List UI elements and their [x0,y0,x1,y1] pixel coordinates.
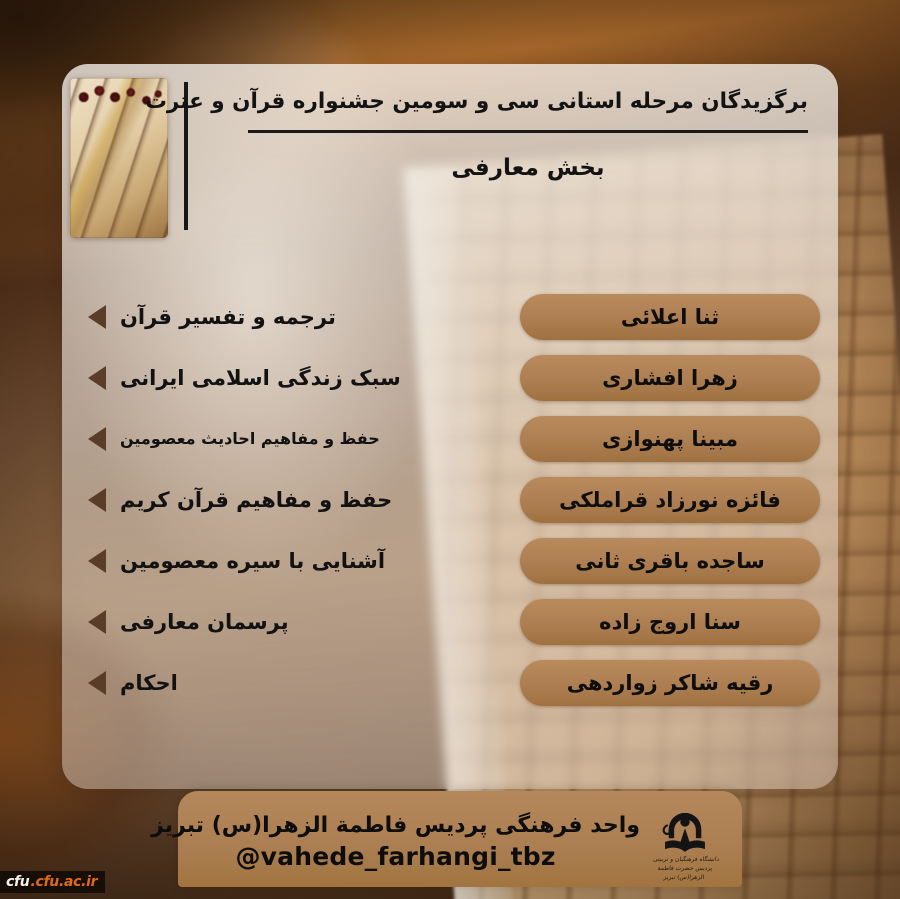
winner-name-pill: سنا اروج زاده [520,599,820,645]
winner-row: ثنا اعلائی ترجمه و تفسیر قرآن [62,286,838,347]
category-label: ترجمه و تفسیر قرآن [120,305,336,329]
footer-bar: دانشگاه فرهنگیان و تربیتی پردیس حضرت فاط… [178,791,742,887]
header-horizontal-rule [248,130,808,133]
winner-row: فائزه نورزاد قراملکی حفظ و مفاهیم قرآن ک… [62,469,838,530]
winner-row: رقیه شاکر زواردهی احکام [62,652,838,713]
poster-root: برگزیدگان مرحله استانی سی و سومین جشنوار… [0,0,900,899]
category-label: احکام [120,671,178,695]
main-card: برگزیدگان مرحله استانی سی و سومین جشنوار… [62,64,838,789]
winner-name-pill: رقیه شاکر زواردهی [520,660,820,706]
winner-name-pill: ثنا اعلائی [520,294,820,340]
winner-name: رقیه شاکر زواردهی [567,671,774,695]
category-label: آشنایی با سیره معصومین [120,549,385,573]
category-label: پرسمان معارفی [120,610,289,634]
triangle-left-icon [88,549,106,573]
winner-name-pill: ساجده باقری ثانی [520,538,820,584]
winner-name: مبینا پهنوازی [602,427,738,451]
category-label: حفظ و مفاهیم قرآن کریم [120,488,392,512]
winner-name: فائزه نورزاد قراملکی [559,488,781,512]
triangle-left-icon [88,427,106,451]
watermark-prefix: cfu [6,874,29,890]
winner-name-pill: فائزه نورزاد قراملکی [520,477,820,523]
triangle-left-icon [88,305,106,329]
organization-logo: دانشگاه فرهنگیان و تربیتی پردیس حضرت فاط… [646,800,724,884]
page-title: برگزیدگان مرحله استانی سی و سومین جشنوار… [248,86,808,118]
category-wrap: حفظ و مفاهیم احادیث معصومین [88,427,446,451]
triangle-left-icon [88,671,106,695]
book-emblem-icon [656,802,714,860]
logo-caption: دانشگاه فرهنگیان و تربیتی پردیس حضرت فاط… [646,855,723,882]
winner-row: سنا اروج زاده پرسمان معارفی [62,591,838,652]
winner-row: مبینا پهنوازی حفظ و مفاهیم احادیث معصومی… [62,408,838,469]
winner-name-pill: زهرا افشاری [520,355,820,401]
winner-name: ساجده باقری ثانی [575,549,765,573]
site-watermark[interactable]: cfu.cfu.ac.ir [0,871,105,893]
category-label: سبک زندگی اسلامی ایرانی [120,366,401,390]
category-wrap: احکام [88,671,446,695]
category-wrap: سبک زندگی اسلامی ایرانی [88,366,446,390]
winner-row: زهرا افشاری سبک زندگی اسلامی ایرانی [62,347,838,408]
category-wrap: پرسمان معارفی [88,610,446,634]
winner-name: سنا اروج زاده [599,610,741,634]
category-wrap: ترجمه و تفسیر قرآن [88,305,446,329]
social-handle[interactable]: @vahede_farhangi_tbz [151,842,640,871]
footer-text-block: واحد فرهنگی پردیس فاطمة الزهرا(س) تبریز … [151,813,640,871]
category-wrap: آشنایی با سیره معصومین [88,549,446,573]
header: برگزیدگان مرحله استانی سی و سومین جشنوار… [62,64,838,250]
winner-name-pill: مبینا پهنوازی [520,416,820,462]
header-text-block: برگزیدگان مرحله استانی سی و سومین جشنوار… [248,86,808,181]
organization-name: واحد فرهنگی پردیس فاطمة الزهرا(س) تبریز [151,813,640,838]
winners-list: ثنا اعلائی ترجمه و تفسیر قرآن زهرا افشار… [62,286,838,713]
winner-row: ساجده باقری ثانی آشنایی با سیره معصومین [62,530,838,591]
category-wrap: حفظ و مفاهیم قرآن کریم [88,488,446,512]
page-subtitle: بخش معارفی [248,155,808,181]
triangle-left-icon [88,488,106,512]
category-label: حفظ و مفاهیم احادیث معصومین [120,429,380,448]
winner-name: زهرا افشاری [602,366,738,390]
watermark-domain: .cfu.ac.ir [30,874,97,890]
triangle-left-icon [88,610,106,634]
winner-name: ثنا اعلائی [621,305,719,329]
triangle-left-icon [88,366,106,390]
